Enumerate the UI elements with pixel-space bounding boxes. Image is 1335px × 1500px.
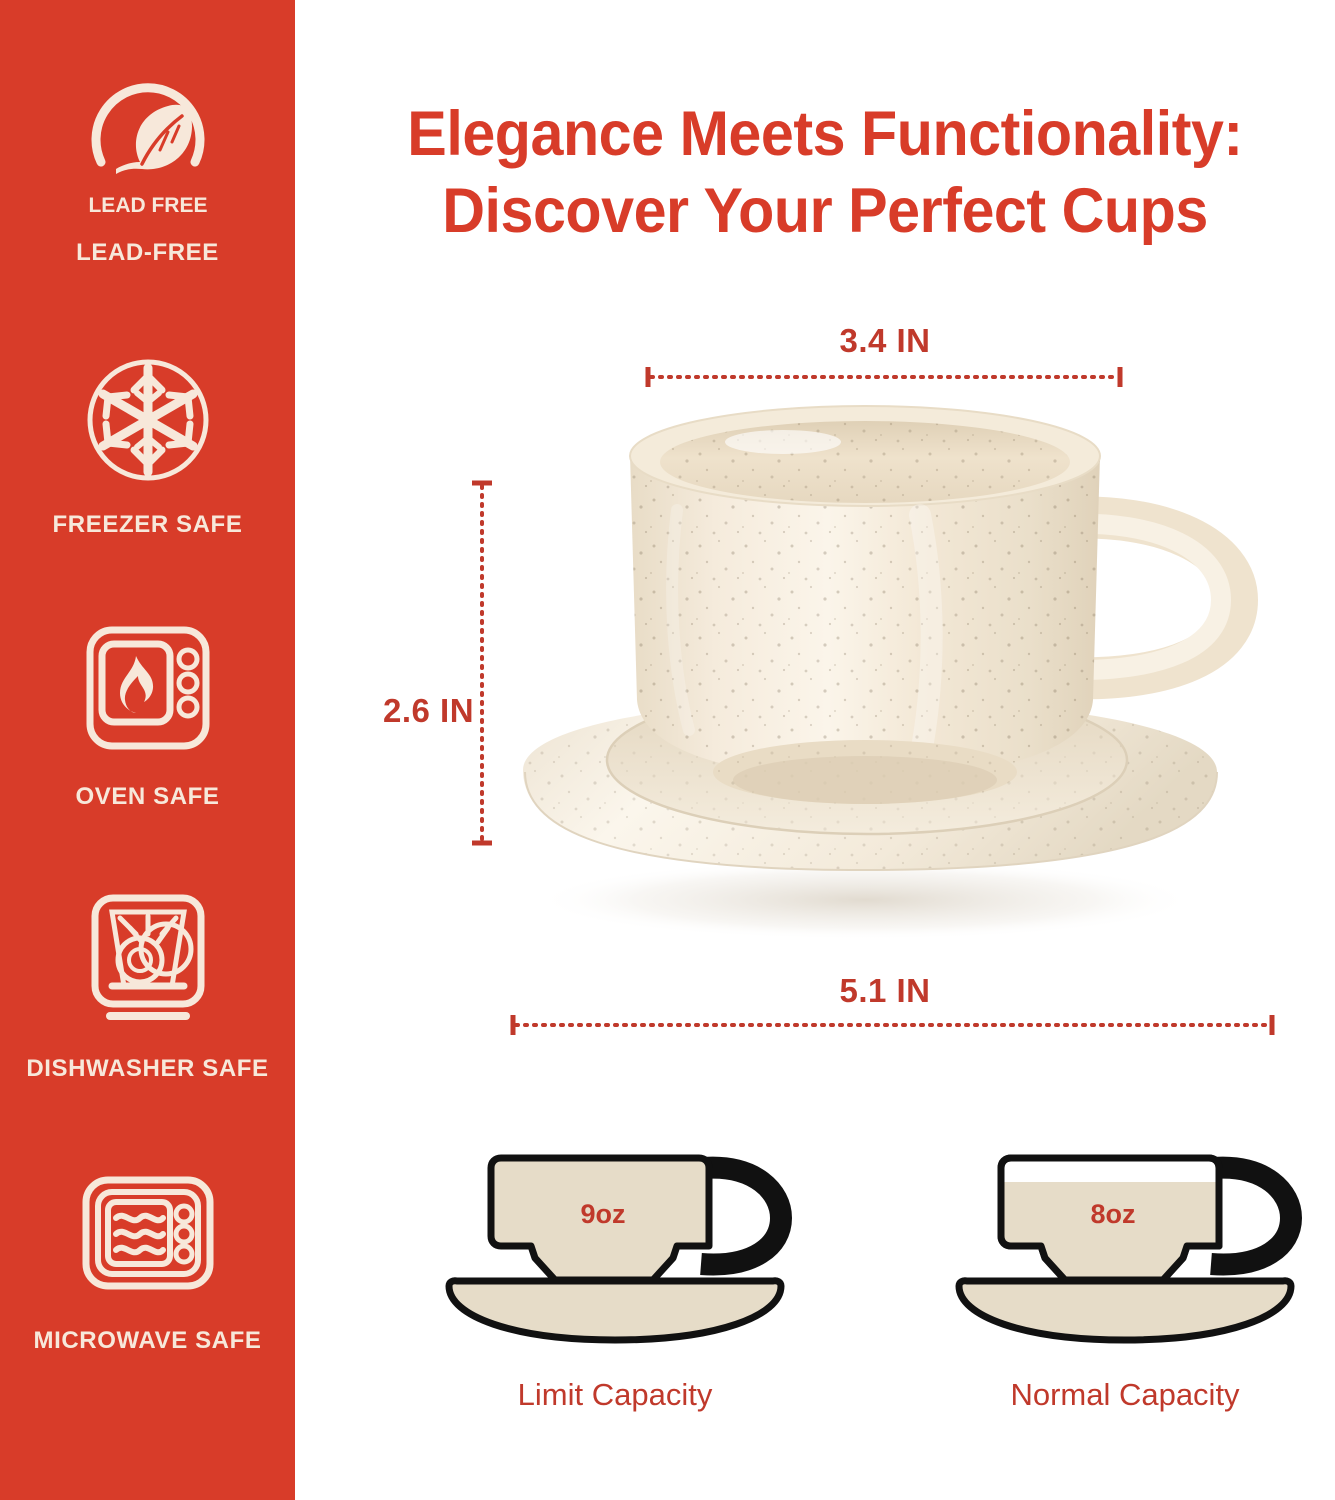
headline-line-2: Discover Your Perfect Cups <box>364 173 1285 250</box>
page-title: Elegance Meets Functionality: Discover Y… <box>364 96 1285 250</box>
oven-icon <box>68 614 228 774</box>
feature-microwave-safe: MICROWAVE SAFE <box>0 1158 295 1430</box>
lead-free-badge-text: LEAD FREE <box>88 194 207 217</box>
capacity-item-limit: 9oz Limit Capacity <box>415 1140 815 1450</box>
headline-line-1: Elegance Meets Functionality: <box>364 96 1285 173</box>
microwave-icon <box>68 1158 228 1318</box>
dimension-width-top-line <box>645 366 1123 388</box>
dimension-width-bottom-line <box>510 1014 1275 1036</box>
dimension-height-label: 2.6 IN <box>383 692 474 730</box>
cup-diagram-limit: 9oz <box>435 1140 795 1365</box>
feature-label: FREEZER SAFE <box>53 512 243 538</box>
feature-lead-free: LEAD FREE LEAD-FREE <box>0 70 295 342</box>
feature-dishwasher-safe: DISHWASHER SAFE <box>0 886 295 1158</box>
feature-freezer-safe: FREEZER SAFE <box>0 342 295 614</box>
cup-diagram-normal: 8oz <box>945 1140 1305 1365</box>
feature-label: MICROWAVE SAFE <box>34 1328 262 1354</box>
dimension-width-top-label: 3.4 IN <box>650 322 1120 360</box>
feature-label: DISHWASHER SAFE <box>26 1056 268 1082</box>
dishwasher-icon <box>68 886 228 1046</box>
product-photo <box>465 400 1275 960</box>
main-content: Elegance Meets Functionality: Discover Y… <box>295 0 1335 1500</box>
capacity-caption-normal: Normal Capacity <box>1010 1377 1239 1413</box>
features-sidebar: LEAD FREE LEAD-FREE <box>0 0 295 1500</box>
capacity-comparison: 9oz Limit Capacity 8oz Normal Capacity <box>415 1140 1325 1450</box>
capacity-value-limit: 9oz <box>580 1199 625 1229</box>
infographic-page: LEAD FREE LEAD-FREE <box>0 0 1335 1500</box>
capacity-caption-limit: Limit Capacity <box>518 1377 713 1413</box>
leaf-lead-free-icon: LEAD FREE <box>68 70 228 230</box>
capacity-value-normal: 8oz <box>1090 1199 1135 1229</box>
feature-oven-safe: OVEN SAFE <box>0 614 295 886</box>
feature-label: LEAD-FREE <box>76 240 219 266</box>
snowflake-icon <box>68 342 228 502</box>
capacity-item-normal: 8oz Normal Capacity <box>925 1140 1325 1450</box>
feature-label: OVEN SAFE <box>75 784 219 810</box>
dimension-width-bottom-label: 5.1 IN <box>595 972 1175 1010</box>
